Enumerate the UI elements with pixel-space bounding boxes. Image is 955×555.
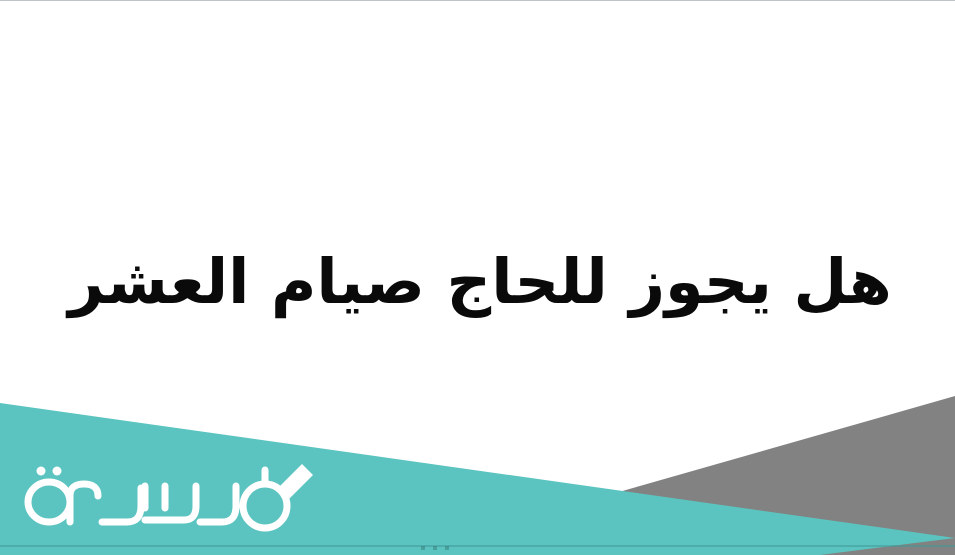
logo-glyph-ain (70, 484, 98, 522)
site-logo[interactable]: موسوعة (14, 458, 324, 536)
bottom-mark-dot-3 (445, 546, 449, 550)
site-logo-svg: موسوعة (14, 458, 324, 536)
logo-glyph-meem (243, 484, 287, 528)
top-hairline-divider (0, 0, 955, 1)
bottom-mark-dot-1 (421, 546, 425, 550)
logo-dot-right-icon (53, 467, 62, 476)
logo-glyph-waw-1 (102, 488, 141, 522)
footer-rule-divider (0, 545, 955, 547)
logo-glyph-seen (145, 486, 196, 520)
bottom-center-mark (421, 545, 449, 551)
logo-glyph-waw-2 (200, 486, 236, 522)
page-title-line-1: هل يجوز للحاج صيام العشر (50, 238, 910, 326)
logo-glyph-taa-marbuta (28, 482, 70, 522)
slide-canvas: هل يجوز للحاج صيام العشر من ذي الحجة (0, 0, 955, 555)
bottom-mark-dot-2 (433, 546, 437, 550)
logo-dot-left-icon (37, 467, 46, 476)
